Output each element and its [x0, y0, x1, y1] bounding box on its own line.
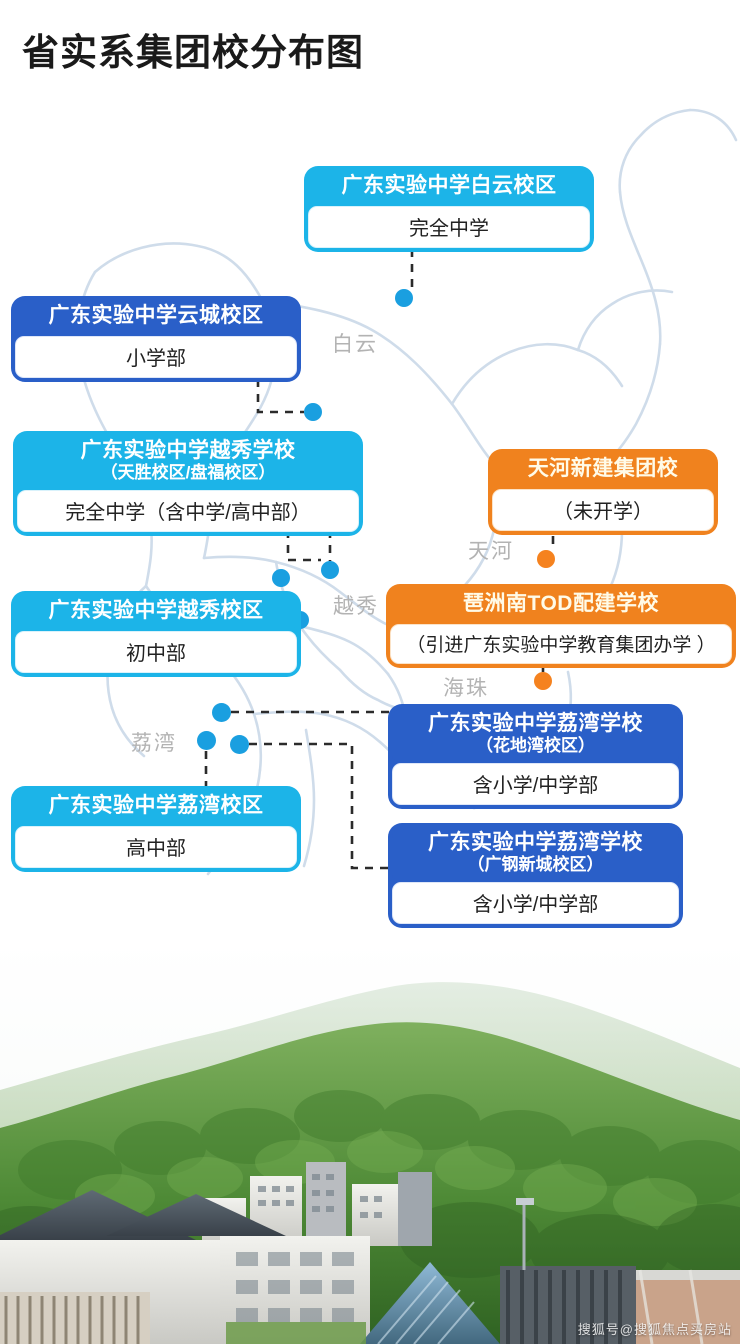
map-dot-yuexiu-school[interactable] — [321, 561, 339, 579]
card-yuexiu-school-title: 广东实验中学越秀学校 — [27, 439, 349, 463]
card-yuexiu-school-head: 广东实验中学越秀学校 （天胜校区/盘福校区） — [17, 435, 359, 487]
card-liwan-campus-detail: 高中部 — [15, 826, 297, 868]
map-dot-pazhou[interactable] — [534, 672, 552, 690]
card-tianhe-new-head: 天河新建集团校 — [492, 453, 714, 486]
card-liwan-campus-title: 广东实验中学荔湾校区 — [25, 794, 287, 818]
card-yuncheng-title: 广东实验中学云城校区 — [25, 304, 287, 328]
card-yuncheng[interactable]: 广东实验中学云城校区 小学部 — [12, 297, 300, 381]
campus-photo-svg — [0, 940, 740, 1344]
watermark-text: 搜狐号@搜狐焦点买房站 — [578, 1319, 732, 1338]
card-pazhou-tod[interactable]: 琶洲南TOD配建学校 （引进广东实验中学教育集团办学 ） — [387, 585, 735, 667]
card-liwan-guanggang-detail: 含小学/中学部 — [392, 882, 679, 924]
card-liwan-huadiwan[interactable]: 广东实验中学荔湾学校 （花地湾校区） 含小学/中学部 — [389, 705, 682, 808]
card-yuexiu-school-subtitle: （天胜校区/盘福校区） — [27, 463, 349, 482]
card-liwan-campus[interactable]: 广东实验中学荔湾校区 高中部 — [12, 787, 300, 871]
card-pazhou-tod-title: 琶洲南TOD配建学校 — [400, 592, 722, 616]
card-liwan-guanggang[interactable]: 广东实验中学荔湾学校 （广钢新城校区） 含小学/中学部 — [389, 824, 682, 927]
card-baiyun-title: 广东实验中学白云校区 — [318, 174, 580, 198]
map-dot-liwan-guanggang[interactable] — [230, 735, 249, 754]
card-yuexiu-campus-head: 广东实验中学越秀校区 — [15, 595, 297, 628]
card-yuexiu-campus[interactable]: 广东实验中学越秀校区 初中部 — [12, 592, 300, 676]
map-dot-liwan-huadiwan[interactable] — [212, 703, 231, 722]
card-yuncheng-detail: 小学部 — [15, 336, 297, 378]
card-yuexiu-school[interactable]: 广东实验中学越秀学校 （天胜校区/盘福校区） 完全中学（含中学/高中部） — [14, 432, 362, 535]
card-liwan-guanggang-head: 广东实验中学荔湾学校 （广钢新城校区） — [392, 827, 679, 879]
card-liwan-huadiwan-subtitle: （花地湾校区） — [402, 736, 669, 755]
card-yuexiu-campus-detail: 初中部 — [15, 631, 297, 673]
card-liwan-huadiwan-detail: 含小学/中学部 — [392, 763, 679, 805]
map-dot-baiyun[interactable] — [395, 289, 413, 307]
card-baiyun-head: 广东实验中学白云校区 — [308, 170, 590, 203]
card-pazhou-tod-head: 琶洲南TOD配建学校 — [390, 588, 732, 621]
infographic-root: 省实系集团校分布图 — [0, 0, 740, 1344]
card-tianhe-new[interactable]: 天河新建集团校 （未开学） — [489, 450, 717, 534]
map-dot-liwan-campus[interactable] — [197, 731, 216, 750]
card-yuncheng-head: 广东实验中学云城校区 — [15, 300, 297, 333]
card-liwan-huadiwan-title: 广东实验中学荔湾学校 — [402, 712, 669, 736]
card-liwan-huadiwan-head: 广东实验中学荔湾学校 （花地湾校区） — [392, 708, 679, 760]
map-dot-yuexiu-campus[interactable] — [272, 569, 290, 587]
card-yuexiu-campus-title: 广东实验中学越秀校区 — [25, 599, 287, 623]
card-yuexiu-school-detail: 完全中学（含中学/高中部） — [17, 490, 359, 532]
card-baiyun[interactable]: 广东实验中学白云校区 完全中学 — [305, 167, 593, 251]
card-baiyun-detail: 完全中学 — [308, 206, 590, 248]
card-tianhe-new-detail: （未开学） — [492, 489, 714, 531]
campus-photo: 搜狐号@搜狐焦点买房站 — [0, 940, 740, 1344]
card-liwan-campus-head: 广东实验中学荔湾校区 — [15, 790, 297, 823]
card-tianhe-new-title: 天河新建集团校 — [502, 457, 704, 481]
card-liwan-guanggang-title: 广东实验中学荔湾学校 — [402, 831, 669, 855]
card-liwan-guanggang-subtitle: （广钢新城校区） — [402, 855, 669, 874]
map-dot-yuncheng[interactable] — [304, 403, 322, 421]
card-pazhou-tod-detail: （引进广东实验中学教育集团办学 ） — [390, 624, 732, 664]
map-dot-tianhe-new[interactable] — [537, 550, 555, 568]
watermark: 搜狐号@搜狐焦点买房站 — [578, 1319, 732, 1338]
